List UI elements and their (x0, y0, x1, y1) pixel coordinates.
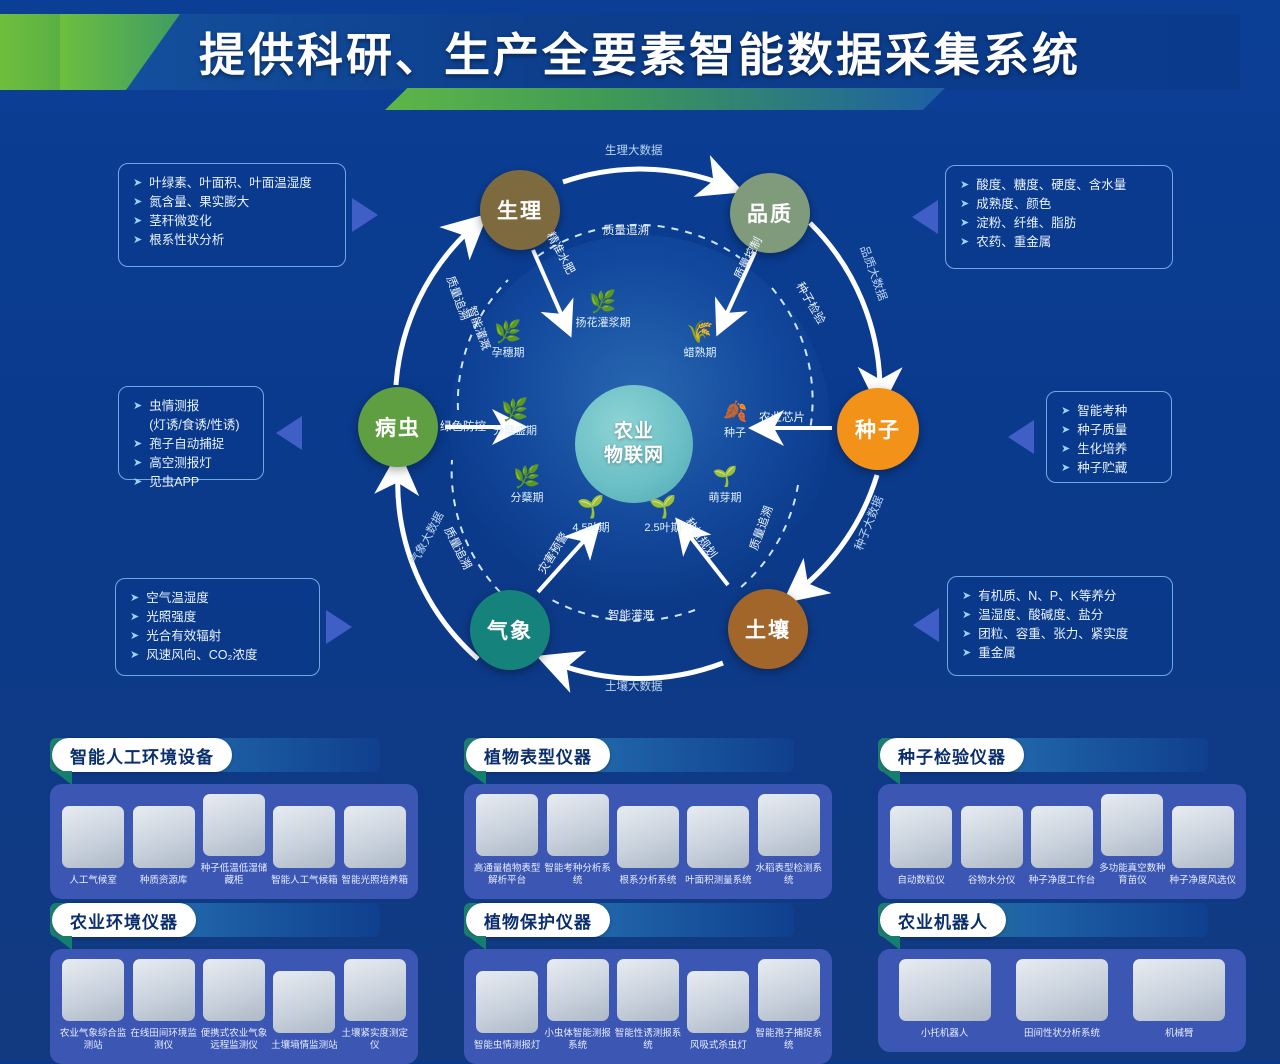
page-header: 提供科研、生产全要素智能数据采集系统 (0, 0, 1280, 120)
list-item: ➤孢子自动捕捉 (133, 435, 249, 454)
card-seed-inspection-instruments: 种子检验仪器 自动数粒仪 谷物水分仪 种子净度工作台 多功能真空数种育苗仪 种子… (878, 738, 1246, 899)
rice-seedling-icon: 🌱 (556, 495, 626, 519)
info-box-soil: ➤有机质、N、P、K等养分 ➤温湿度、酸碱度、盐分 ➤团粒、容重、张力、紧实度 … (947, 576, 1173, 676)
product-thumbnail-seed-storage-cabinet (203, 794, 265, 856)
node-quality[interactable]: 品质 (730, 173, 810, 253)
flow-label-quality-trace-top: 质量追溯 (603, 222, 649, 238)
center-label-line1: 农业 (614, 420, 654, 444)
arrow-bullet-icon: ➤ (1061, 440, 1070, 459)
flow-label-green-control: 绿色防控 (440, 418, 486, 434)
arrow-bullet-icon: ➤ (960, 176, 969, 195)
node-soil[interactable]: 土壤 (728, 589, 808, 669)
product-item[interactable]: 土壤墒情监测站 (270, 971, 338, 1052)
list-item: ➤种子贮藏 (1061, 459, 1157, 478)
product-item[interactable]: 根系分析系统 (614, 806, 682, 887)
info-box-quality: ➤酸度、糖度、硬度、含水量 ➤成熟度、颜色 ➤淀粉、纤维、脂肪 ➤农药、重金属 (945, 165, 1173, 269)
rice-plant-icon: 🌿 (492, 465, 562, 489)
card-body: 农业气象综合监测站 在线田间环境监测仪 便携式农业气象远程监测仪 土壤墒情监测站… (50, 949, 418, 1064)
stage-item: 🌾蜡熟期 (665, 320, 735, 360)
list-item: ➤风速风向、CO₂浓度 (130, 646, 305, 665)
product-item[interactable]: 多功能真空数种育苗仪 (1098, 794, 1166, 887)
arrow-bullet-icon: ➤ (133, 435, 142, 454)
card-title: 种子检验仪器 (880, 738, 1024, 772)
card-smart-environment-equipment: 智能人工环境设备 人工气候室 种质资源库 种子低温低湿储藏柜 智能人工气候箱 智… (50, 738, 418, 899)
product-item[interactable]: 风吸式杀虫灯 (684, 971, 752, 1052)
product-thumbnail-purity-workbench (1031, 806, 1093, 868)
rice-plant-icon: 🌿 (480, 398, 550, 422)
product-item[interactable]: 小托机器人 (897, 959, 993, 1040)
product-item[interactable]: 种子低温低湿储藏柜 (200, 794, 268, 887)
arrow-bullet-icon: ➤ (962, 625, 971, 644)
list-item: ➤智能考种 (1061, 402, 1157, 421)
arrow-bullet-icon: ➤ (962, 606, 971, 625)
card-tab: 种子检验仪器 (878, 738, 1246, 772)
product-item[interactable]: 农业气象综合监测站 (59, 959, 127, 1052)
product-thumbnail-small-robot (899, 959, 991, 1021)
product-thumbnail-field-env-monitor (133, 959, 195, 1021)
header-green-bottom-band (385, 88, 945, 110)
card-title: 智能人工环境设备 (52, 738, 232, 772)
card-tab-notch (882, 771, 900, 785)
stage-item: 🌿扬花灌浆期 (568, 290, 638, 330)
product-thumbnail-soil-compaction-meter (344, 959, 406, 1021)
product-item[interactable]: 智能人工气候箱 (270, 806, 338, 887)
card-tab: 植物表型仪器 (464, 738, 832, 772)
product-item[interactable]: 叶面积测量系统 (684, 806, 752, 887)
arrow-bullet-icon: ➤ (130, 608, 139, 627)
product-thumbnail-grain-moisture-meter (961, 806, 1023, 868)
card-plant-phenotype-instruments: 植物表型仪器 高通量植物表型解析平台 智能考种分析系统 根系分析系统 叶面积测量… (464, 738, 832, 899)
list-item: ➤生化培养 (1061, 440, 1157, 459)
product-item[interactable]: 水稻表型检测系统 (755, 794, 823, 887)
arrow-bullet-icon: ➤ (133, 454, 142, 473)
product-item[interactable]: 智能虫情测报灯 (473, 971, 541, 1052)
product-thumbnail-climate-chamber (62, 806, 124, 868)
product-thumbnail-portable-weather-monitor (203, 959, 265, 1021)
arrow-bullet-icon: ➤ (960, 195, 969, 214)
product-thumbnail-rice-phenotype (758, 794, 820, 856)
arrow-bullet-icon: ➤ (1061, 421, 1070, 440)
product-thumbnail-root-analysis (617, 806, 679, 868)
arrow-bullet-icon: ➤ (133, 231, 142, 250)
card-tab: 农业机器人 (878, 903, 1246, 937)
product-item[interactable]: 种质资源库 (130, 806, 198, 887)
arrow-bullet-icon: ➤ (130, 627, 139, 646)
list-item: ➤光合有效辐射 (130, 627, 305, 646)
center-label-line2: 物联网 (604, 444, 664, 468)
list-item: ➤种子质量 (1061, 421, 1157, 440)
card-tab-notch (468, 936, 486, 950)
stage-item: 🌿分蘖盛期 (480, 398, 550, 438)
flow-label-smart-irrigation: 智能灌溉 (608, 607, 654, 623)
arrow-bullet-icon: ➤ (133, 193, 142, 212)
product-thumbnail-field-trait-analysis (1016, 959, 1108, 1021)
info-box-pest: ➤虫情测报(灯诱/食诱/性诱) ➤孢子自动捕捉 ➤高空测报灯 ➤见虫APP (118, 386, 264, 480)
bigdata-label-soil: 土壤大数据 (605, 678, 663, 694)
list-item: ➤虫情测报(灯诱/食诱/性诱) (133, 397, 249, 435)
product-thumbnail-small-insect-monitor (547, 959, 609, 1021)
card-plant-protection-instruments: 植物保护仪器 智能虫情测报灯 小虫体智能测报系统 智能性诱测报系统 风吸式杀虫灯… (464, 903, 832, 1064)
product-thumbnail-light-incubator (344, 806, 406, 868)
card-title: 农业机器人 (880, 903, 1006, 937)
info-box-weather: ➤空气温湿度 ➤光照强度 ➤光合有效辐射 ➤风速风向、CO₂浓度 (115, 578, 320, 676)
product-item[interactable]: 土壤紧实度测定仪 (341, 959, 409, 1052)
arrow-bullet-icon: ➤ (960, 233, 969, 252)
product-item[interactable]: 谷物水分仪 (958, 806, 1026, 887)
rice-seedling-icon: 🌱 (628, 495, 698, 519)
list-item: ➤团粒、容重、张力、紧实度 (962, 625, 1158, 644)
product-thumbnail-leaf-area-meter (687, 806, 749, 868)
connector-arrow-pest (276, 416, 302, 450)
product-thumbnail-climate-box (273, 806, 335, 868)
product-item[interactable]: 小虫体智能测报系统 (544, 959, 612, 1052)
product-thumbnail-germplasm-bank (133, 806, 195, 868)
product-item[interactable]: 便携式农业气象远程监测仪 (200, 959, 268, 1052)
arrow-bullet-icon: ➤ (133, 473, 142, 492)
product-item[interactable]: 在线田间环境监测仪 (130, 959, 198, 1052)
flow-label-agri-chip: 农业芯片 (759, 409, 805, 425)
rice-ripe-icon: 🌾 (665, 320, 735, 344)
stage-item: 🌱萌芽期 (690, 465, 760, 505)
card-title: 植物表型仪器 (466, 738, 610, 772)
stage-item: 🌿分蘖期 (492, 465, 562, 505)
list-item: ➤有机质、N、P、K等养分 (962, 587, 1158, 606)
list-item: ➤根系性状分析 (133, 231, 331, 250)
card-tab-notch (54, 936, 72, 950)
rice-plant-icon: 🌿 (568, 290, 638, 314)
center-node-agriculture-iot[interactable]: 农业 物联网 (575, 385, 693, 503)
product-item[interactable]: 种子净度风选仪 (1169, 806, 1237, 887)
stage-item: 🌱4.5叶期 (556, 495, 626, 535)
bigdata-label-physiology: 生理大数据 (605, 142, 663, 158)
card-body: 自动数粒仪 谷物水分仪 种子净度工作台 多功能真空数种育苗仪 种子净度风选仪 (878, 784, 1246, 899)
arrow-bullet-icon: ➤ (130, 646, 139, 665)
list-item: ➤见虫APP (133, 473, 249, 492)
arrow-bullet-icon: ➤ (962, 587, 971, 606)
card-tab-notch (54, 771, 72, 785)
card-agricultural-robots: 农业机器人 小托机器人 田间性状分析系统 机械臂 (878, 903, 1246, 1052)
node-pest[interactable]: 病虫 (358, 387, 438, 467)
product-thumbnail-pest-forecast-lamp (476, 971, 538, 1033)
product-item[interactable]: 人工气候室 (59, 806, 127, 887)
list-item: ➤茎秆微变化 (133, 212, 331, 231)
product-thumbnail-seed-counter (890, 806, 952, 868)
arrow-bullet-icon: ➤ (130, 589, 139, 608)
product-thumbnail-vacuum-seeder (1101, 794, 1163, 856)
list-item: ➤光照强度 (130, 608, 305, 627)
product-thumbnail-robotic-arm (1133, 959, 1225, 1021)
page-title: 提供科研、生产全要素智能数据采集系统 (0, 14, 1280, 90)
info-box-seed: ➤智能考种 ➤种子质量 ➤生化培养 ➤种子贮藏 (1046, 391, 1172, 483)
product-item[interactable]: 种子净度工作台 (1028, 806, 1096, 887)
product-thumbnail-pheromone-trap-system (617, 959, 679, 1021)
arrow-bullet-icon: ➤ (133, 212, 142, 231)
card-body: 高通量植物表型解析平台 智能考种分析系统 根系分析系统 叶面积测量系统 水稻表型… (464, 784, 832, 899)
list-item: ➤重金属 (962, 644, 1158, 663)
product-thumbnail-phenotype-platform (476, 794, 538, 856)
product-item[interactable]: 田间性状分析系统 (1014, 959, 1110, 1040)
product-thumbnail-weather-station (62, 959, 124, 1021)
product-item[interactable]: 自动数粒仪 (887, 806, 955, 887)
product-thumbnail-seed-test-analyzer (547, 794, 609, 856)
agriculture-iot-cycle-diagram: 生理 品质 种子 土壤 气象 病虫 农业 物联网 🌿扬花灌浆期 🌿孕穗期 🌾蜡熟… (340, 130, 940, 710)
card-body: 小托机器人 田间性状分析系统 机械臂 (878, 949, 1246, 1052)
list-item: ➤高空测报灯 (133, 454, 249, 473)
product-item[interactable]: 智能考种分析系统 (544, 794, 612, 887)
card-tab: 农业环境仪器 (50, 903, 418, 937)
arrow-bullet-icon: ➤ (133, 397, 142, 416)
list-item: ➤氮含量、果实膨大 (133, 193, 331, 212)
list-item: ➤成熟度、颜色 (960, 195, 1158, 214)
product-thumbnail-suction-insect-lamp (687, 971, 749, 1033)
product-thumbnail-spore-trap-system (758, 959, 820, 1021)
arrow-bullet-icon: ➤ (133, 174, 142, 193)
list-item: ➤温湿度、酸碱度、盐分 (962, 606, 1158, 625)
list-item: ➤农药、重金属 (960, 233, 1158, 252)
node-weather[interactable]: 气象 (470, 590, 550, 670)
connector-arrow-seed (1008, 420, 1034, 454)
list-item: ➤酸度、糖度、硬度、含水量 (960, 176, 1158, 195)
product-item[interactable]: 智能光照培养箱 (341, 806, 409, 887)
card-title: 农业环境仪器 (52, 903, 196, 937)
list-item: ➤叶绿素、叶面积、叶面温湿度 (133, 174, 331, 193)
card-tab: 植物保护仪器 (464, 903, 832, 937)
arrow-bullet-icon: ➤ (1061, 402, 1070, 421)
arrow-bullet-icon: ➤ (1061, 459, 1070, 478)
arrow-bullet-icon: ➤ (962, 644, 971, 663)
product-thumbnail-soil-moisture-station (273, 971, 335, 1033)
card-body: 智能虫情测报灯 小虫体智能测报系统 智能性诱测报系统 风吸式杀虫灯 智能孢子捕捉… (464, 949, 832, 1064)
list-item: ➤淀粉、纤维、脂肪 (960, 214, 1158, 233)
product-thumbnail-air-separator (1172, 806, 1234, 868)
card-agri-environment-instruments: 农业环境仪器 农业气象综合监测站 在线田间环境监测仪 便携式农业气象远程监测仪 … (50, 903, 418, 1064)
node-seed[interactable]: 种子 (837, 388, 919, 470)
sprout-icon: 🌱 (690, 465, 760, 489)
product-item[interactable]: 智能性诱测报系统 (614, 959, 682, 1052)
product-item[interactable]: 智能孢子捕捉系统 (755, 959, 823, 1052)
card-tab-notch (468, 771, 486, 785)
card-tab-notch (882, 936, 900, 950)
list-item: ➤空气温湿度 (130, 589, 305, 608)
card-tab: 智能人工环境设备 (50, 738, 418, 772)
product-item[interactable]: 机械臂 (1131, 959, 1227, 1040)
arrow-bullet-icon: ➤ (960, 214, 969, 233)
card-title: 植物保护仪器 (466, 903, 610, 937)
card-body: 人工气候室 种质资源库 种子低温低湿储藏柜 智能人工气候箱 智能光照培养箱 (50, 784, 418, 899)
info-box-physiology: ➤叶绿素、叶面积、叶面温湿度 ➤氮含量、果实膨大 ➤茎秆微变化 ➤根系性状分析 (118, 163, 346, 267)
product-item[interactable]: 高通量植物表型解析平台 (473, 794, 541, 887)
